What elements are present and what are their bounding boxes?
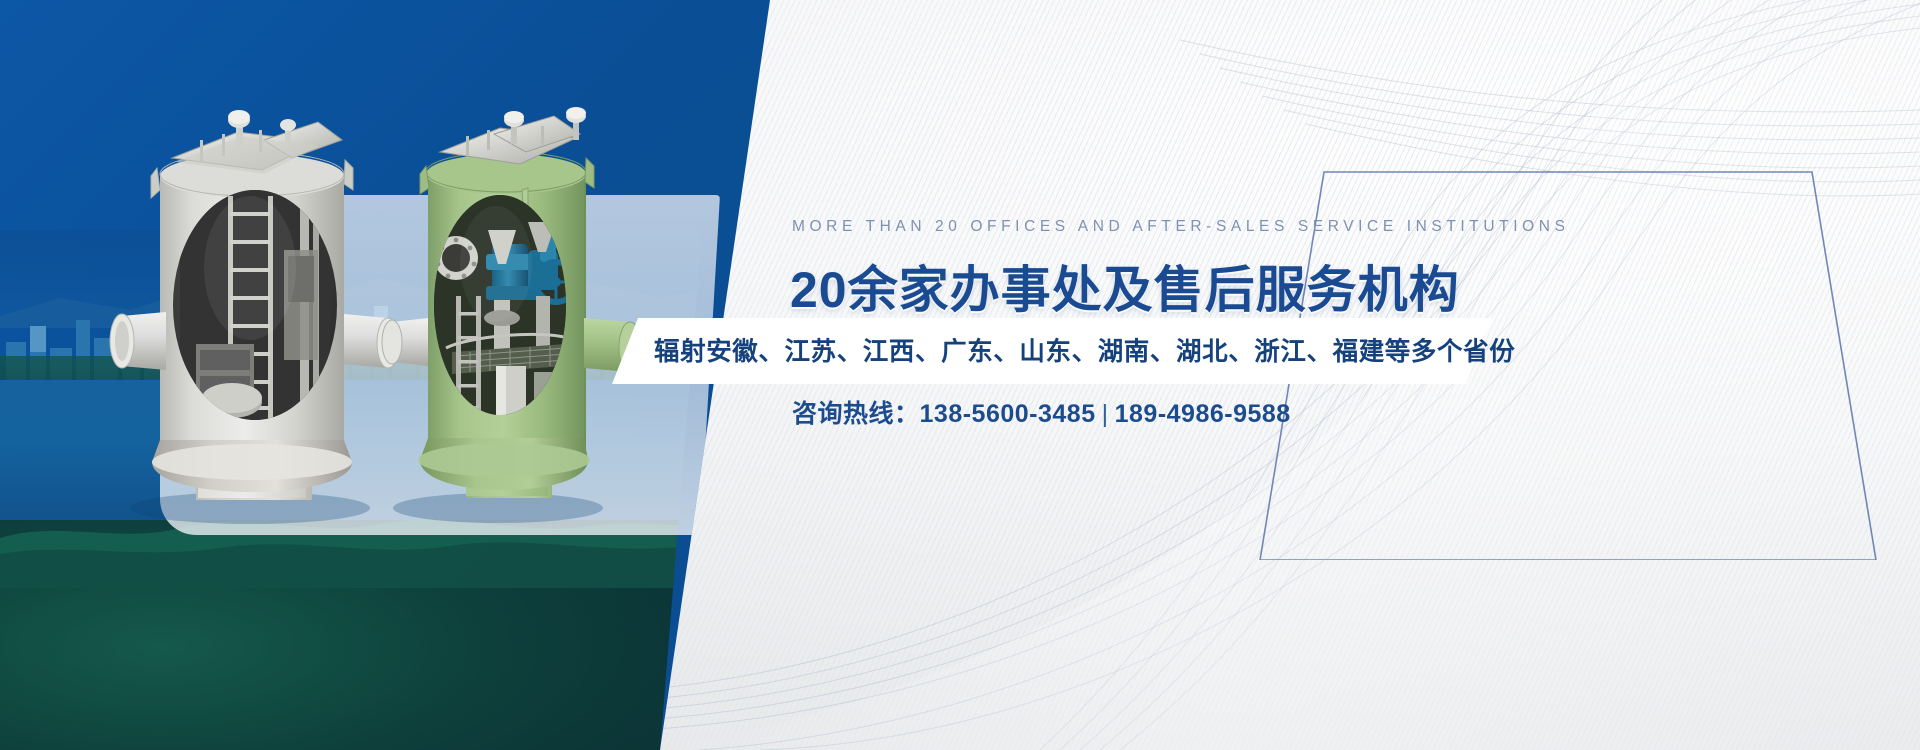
hotline-primary-number[interactable]: 138-5600-3485	[920, 400, 1096, 428]
hotline-row: 咨询热线：138-5600-3485|189-4986-9588	[792, 394, 1291, 430]
hotline-secondary-number[interactable]: 189-4986-9588	[1115, 400, 1291, 428]
promotional-banner: MORE THAN 20 OFFICES AND AFTER-SALES SER…	[0, 0, 1920, 750]
product-gray-pump-station	[110, 110, 399, 524]
headline-text: 20余家办事处及售后服务机构	[790, 250, 1460, 322]
product-green-pump-station	[382, 107, 641, 523]
coverage-text: 辐射安徽、江苏、江西、广东、山东、湖南、湖北、浙江、福建等多个省份	[654, 331, 1494, 368]
hotline-separator: |	[1096, 400, 1115, 428]
hotline-label: 咨询热线：	[792, 400, 920, 428]
eyebrow-text: MORE THAN 20 OFFICES AND AFTER-SALES SER…	[792, 218, 1570, 236]
